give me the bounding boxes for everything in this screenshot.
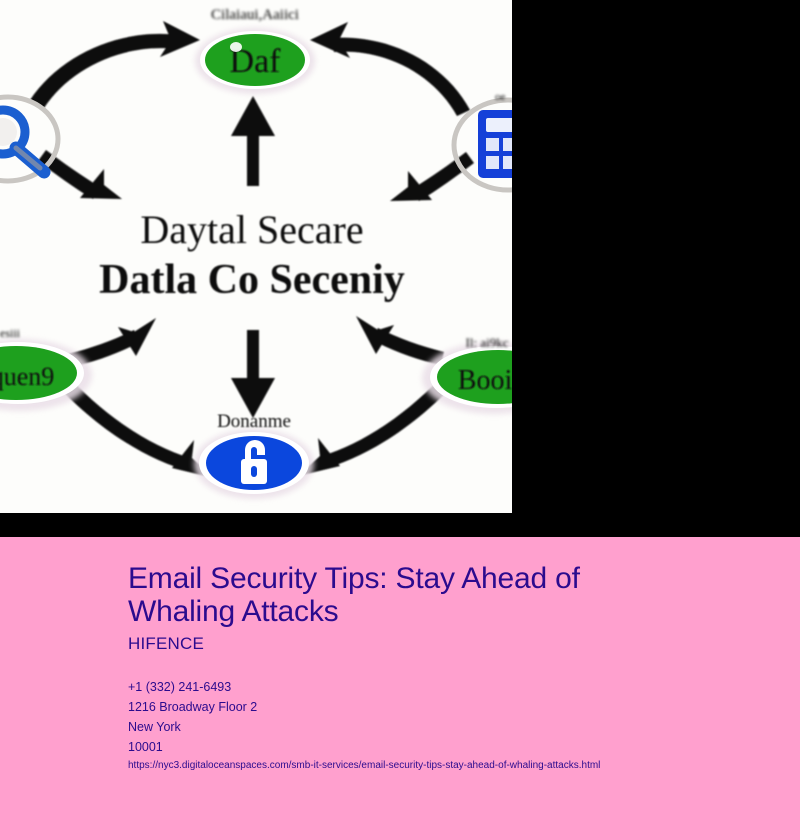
data-security-diagram-image: oe Daf Cilaiaui,Aaiici Daytal Secare Dat… — [0, 0, 512, 513]
node-lock-caption: Donanme — [217, 411, 291, 432]
node-bottom-right-caption: Il: ai9kc — [466, 335, 509, 350]
monitor-node-caption: oe — [495, 91, 506, 103]
center-heading-line2: Datla Co Seceniy — [99, 257, 405, 303]
node-bottom-right-label: Booio — [458, 365, 512, 396]
contact-block: +1 (332) 241-6493 1216 Broadway Floor 2 … — [128, 677, 257, 757]
contact-zip: 10001 — [128, 737, 257, 757]
node-bottom-left-label: xquen9 — [0, 362, 54, 391]
contact-street: 1216 Broadway Floor 2 — [128, 697, 257, 717]
content-card: Email Security Tips: Stay Ahead of Whali… — [0, 537, 800, 840]
brand-name: HIFENCE — [128, 634, 204, 654]
center-heading-line1: Daytal Secare — [140, 207, 363, 252]
contact-city: New York — [128, 717, 257, 737]
node-top-caption: Cilaiaui,Aaiici — [211, 7, 299, 23]
source-url[interactable]: https://nyc3.digitaloceanspaces.com/smb-… — [128, 759, 600, 773]
illustration-band: oe Daf Cilaiaui,Aaiici Daytal Secare Dat… — [0, 0, 800, 537]
contact-phone[interactable]: +1 (332) 241-6493 — [128, 677, 257, 697]
node-top: Daf Cilaiaui,Aaiici — [195, 7, 315, 94]
node-bottom-left-caption: esiii — [0, 326, 21, 340]
page-title: Email Security Tips: Stay Ahead of Whali… — [128, 562, 668, 628]
diagram-canvas: oe Daf Cilaiaui,Aaiici Daytal Secare Dat… — [0, 0, 512, 513]
